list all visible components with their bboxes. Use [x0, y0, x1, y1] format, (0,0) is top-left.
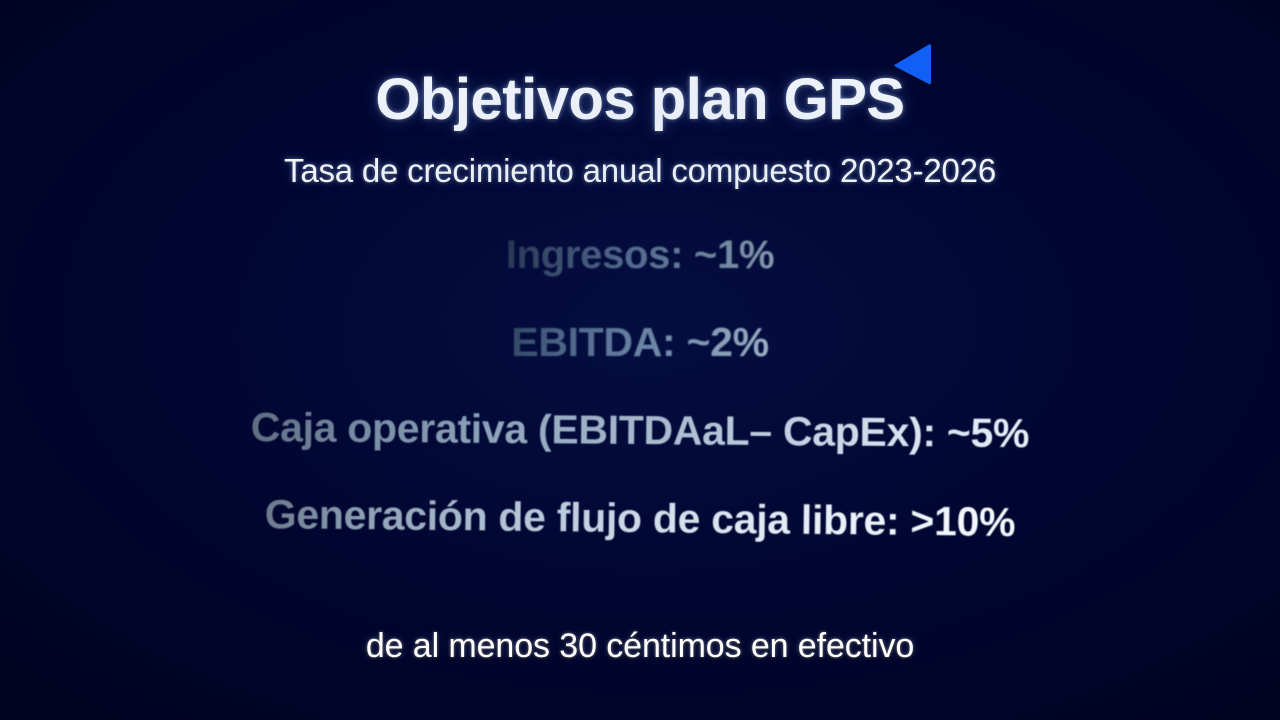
- metric-item: Caja operativa (EBITDAaL– CapEx): ~5%: [0, 381, 1280, 479]
- title-row: Objetivos plan GPS: [375, 70, 904, 130]
- metric-text: Generación de flujo de caja libre: >10%: [264, 470, 1015, 566]
- metric-item: EBITDA: ~2%: [0, 298, 1280, 386]
- page-title: Objetivos plan GPS: [375, 67, 904, 132]
- metric-item: Ingresos: ~1%: [0, 212, 1280, 298]
- metric-text: EBITDA: ~2%: [511, 298, 769, 386]
- subtitle-caption: de al menos 30 céntimos en efectivo: [0, 627, 1280, 666]
- metric-item: Generación de flujo de caja libre: >10%: [0, 467, 1280, 568]
- page-subtitle: Tasa de crecimiento anual compuesto 2023…: [0, 152, 1280, 190]
- title-block: Objetivos plan GPS: [0, 70, 1280, 130]
- slide-stage: Objetivos plan GPS Tasa de crecimiento a…: [0, 0, 1280, 720]
- triangle-left-icon: [887, 42, 933, 88]
- metric-text: Caja operativa (EBITDAaL– CapEx): ~5%: [250, 383, 1029, 477]
- metrics-list: Ingresos: ~1% EBITDA: ~2% Caja operativa…: [0, 212, 1280, 562]
- metric-text: Ingresos: ~1%: [506, 212, 774, 298]
